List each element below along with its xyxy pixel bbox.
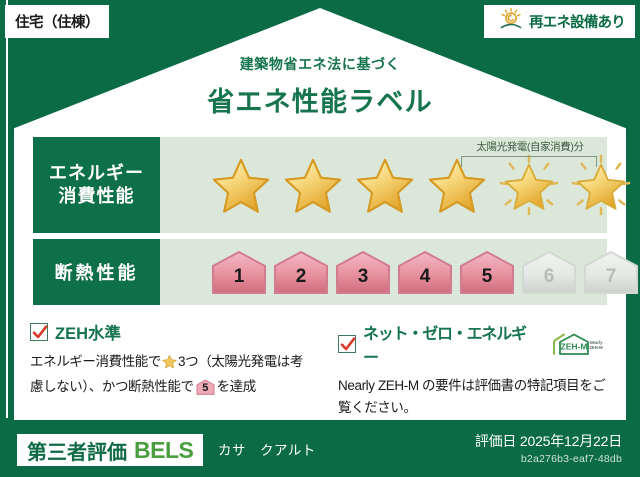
netzero-title: ネット・ゼロ・エネルギー [363, 320, 537, 368]
bels-logo-text: BELS [134, 437, 193, 464]
badge-housing-type: 住宅（住棟） [5, 5, 109, 38]
netzero-checkbox [338, 335, 356, 353]
evaluation-info: 評価日 2025年12月22日 b2a276b3-eaf7-48db [475, 431, 622, 465]
zeh-desc-post: を達成 [217, 379, 256, 394]
bels-banner: 第三者評価 BELS [17, 434, 203, 466]
inline-grade-value: 5 [196, 379, 215, 395]
zeh-title: ZEH水準 [55, 320, 121, 344]
insulation-performance-label: 断熱性能 [33, 239, 160, 305]
insulation-grade-group: 1 2 3 4 [210, 239, 601, 305]
title-main: 省エネ性能ラベル [0, 80, 640, 119]
evaluation-date: 評価日 2025年12月22日 [475, 431, 622, 451]
energy-label-line1: エネルギー [49, 162, 144, 185]
grade-cell-7: 7 [582, 249, 640, 295]
grade-number: 7 [606, 267, 617, 295]
zeh-heading: ZEH水準 [30, 320, 313, 344]
grade-cell-3: 3 [334, 249, 392, 295]
energy-star-field: 太陽光発電(自家消費)分 [160, 137, 607, 233]
page-title: 建築物省エネ法に基づく 省エネ性能ラベル [0, 54, 640, 119]
badge-housing-type-label: 住宅（住棟） [15, 11, 99, 32]
owner-name: カサ クアルト [218, 439, 316, 459]
svg-text:ZEH-M: ZEH-M [561, 342, 588, 352]
grade-cell-5: 5 [458, 249, 516, 295]
grade-cell-2: 2 [272, 249, 330, 295]
star-2 [282, 154, 344, 216]
evaluation-id: b2a276b3-eaf7-48db [475, 453, 622, 465]
sun-icon [498, 7, 524, 36]
solar-portion-caption: 太陽光発電(自家消費)分 [437, 139, 623, 154]
energy-performance-row: エネルギー 消費性能 太陽光発電(自家消費)分 [33, 137, 607, 233]
criteria-columns: ZEH水準 エネルギー消費性能で3つ（太陽光発電は考慮しない）、かつ断熱性能で5… [30, 320, 616, 406]
grade-number: 3 [358, 267, 369, 295]
insulation-performance-row: 断熱性能 [33, 239, 607, 305]
badge-renewable-label: 再エネ設備あり [529, 11, 625, 32]
title-subtitle: 建築物省エネ法に基づく [0, 54, 640, 74]
netzero-heading: ネット・ゼロ・エネルギー ZEH-M Nearly ZEH-M [338, 320, 606, 368]
solar-portion-bracket [461, 156, 597, 167]
energy-performance-label: エネルギー 消費性能 [33, 137, 160, 233]
grade-number: 1 [234, 267, 245, 295]
grade-cell-1: 1 [210, 249, 268, 295]
grade-cell-6: 6 [520, 249, 578, 295]
star-1 [210, 154, 272, 216]
zeh-description: エネルギー消費性能で3つ（太陽光発電は考慮しない）、かつ断熱性能で5を達成 [30, 351, 313, 399]
netzero-criteria-block: ネット・ゼロ・エネルギー ZEH-M Nearly ZEH-M Nearly Z… [323, 320, 616, 406]
zeh-checkbox [30, 323, 48, 341]
grade-number: 6 [544, 267, 555, 295]
grade-cell-4: 4 [396, 249, 454, 295]
check-icon [32, 324, 48, 341]
insulation-grade-field: 1 2 3 4 [160, 239, 607, 305]
svg-text:ZEH-M: ZEH-M [589, 345, 603, 350]
energy-performance-label: 住宅（住棟） 再エネ設備あり 建築物省エネ法に基づく 省エネ性能ラベル [0, 0, 640, 477]
check-icon [340, 336, 356, 353]
grade-number: 5 [482, 267, 493, 295]
grade-number: 2 [296, 267, 307, 295]
grade-number: 4 [420, 267, 431, 295]
netzero-description: Nearly ZEH-M の要件は評価書の特記項目をご覧ください。 [338, 375, 606, 420]
bels-japanese-label: 第三者評価 [27, 436, 127, 465]
zeh-criteria-block: ZEH水準 エネルギー消費性能で3つ（太陽光発電は考慮しない）、かつ断熱性能で5… [30, 320, 323, 406]
star-3 [354, 154, 416, 216]
zeh-desc-pre: エネルギー消費性能で [30, 354, 161, 369]
inline-grade-badge: 5 [196, 379, 215, 395]
energy-label-line2: 消費性能 [59, 185, 135, 208]
zeh-m-logo: ZEH-M Nearly ZEH-M [550, 331, 606, 357]
inline-star-icon [162, 354, 177, 376]
badge-renewable-equipment: 再エネ設備あり [484, 5, 635, 38]
